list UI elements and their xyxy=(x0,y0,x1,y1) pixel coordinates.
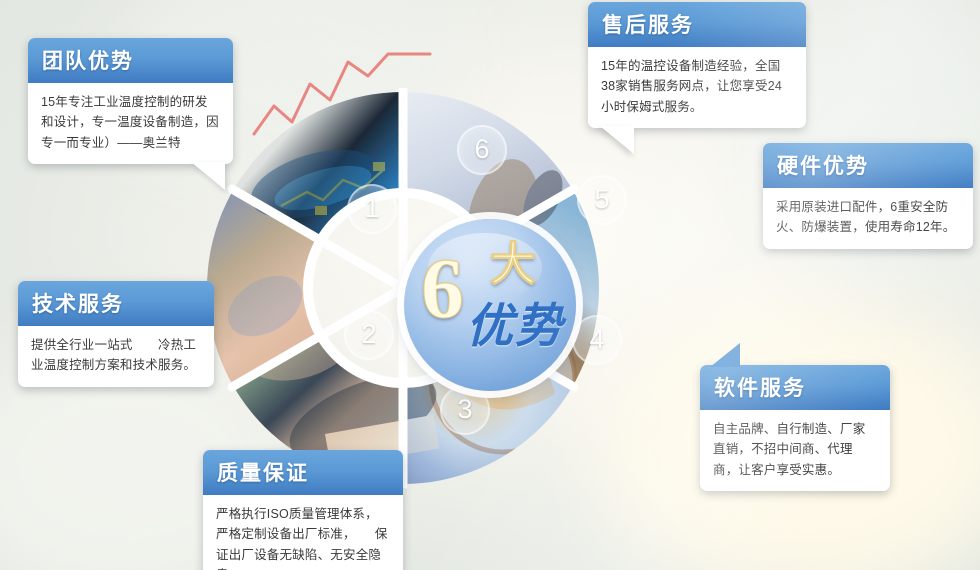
card-body-team: 15年专注工业温度控制的研发和设计，专一温度设备制造，因专一而专业）——奥兰特 xyxy=(28,83,233,164)
speech-tail-icon xyxy=(191,162,225,190)
card-body-hardware: 采用原装进口配件，6重安全防火、防爆装置，使用寿命12年。 xyxy=(763,188,973,249)
infographic-canvas: 1 2 3 4 5 6 6 大 优势 团队优势 15年专注工业温度控制的研发和设… xyxy=(0,0,980,570)
card-title-tech: 技术服务 xyxy=(18,281,214,326)
callout-card-team: 团队优势 15年专注工业温度控制的研发和设计，专一温度设备制造，因专一而专业）—… xyxy=(28,38,233,164)
card-title-hardware: 硬件优势 xyxy=(763,143,973,188)
speech-tail-icon xyxy=(600,126,634,154)
card-body-after-sales: 15年的温控设备制造经验，全国38家销售服务网点，让您享受24小时保姆式服务。 xyxy=(588,47,806,128)
callout-card-tech: 技术服务 提供全行业一站式 冷热工业温度控制方案和技术服务。 xyxy=(18,281,214,387)
speech-tail-icon xyxy=(710,343,740,367)
card-title-team: 团队优势 xyxy=(28,38,233,83)
card-body-software: 自主品牌、自行制造、厂家直销，不招中间商、代理商，让客户享受实惠。 xyxy=(700,410,890,491)
card-title-software: 软件服务 xyxy=(700,365,890,410)
callout-card-software: 软件服务 自主品牌、自行制造、厂家直销，不招中间商、代理商，让客户享受实惠。 xyxy=(700,365,890,491)
card-title-quality: 质量保证 xyxy=(203,450,403,495)
callout-card-quality: 质量保证 严格执行ISO质量管理体系，严格定制设备出厂标准， 保证出厂设备无缺陷… xyxy=(203,450,403,570)
center-circle xyxy=(404,219,576,391)
card-body-line: 厂设备无缺陷、无安全隐患。 xyxy=(216,548,381,570)
card-title-after-sales: 售后服务 xyxy=(588,2,806,47)
card-body-line: 温度控制方案和技术服务。 xyxy=(44,358,196,372)
card-body-quality: 严格执行ISO质量管理体系，严格定制设备出厂标准， 保证出厂设备无缺陷、无安全隐… xyxy=(203,495,403,570)
callout-card-after-sales: 售后服务 15年的温控设备制造经验，全国38家销售服务网点，让您享受24小时保姆… xyxy=(588,2,806,128)
card-body-line: 享受实惠。 xyxy=(777,463,841,477)
callout-card-hardware: 硬件优势 采用原装进口配件，6重安全防火、防爆装置，使用寿命12年。 xyxy=(763,143,973,249)
card-body-tech: 提供全行业一站式 冷热工业温度控制方案和技术服务。 xyxy=(18,326,214,387)
